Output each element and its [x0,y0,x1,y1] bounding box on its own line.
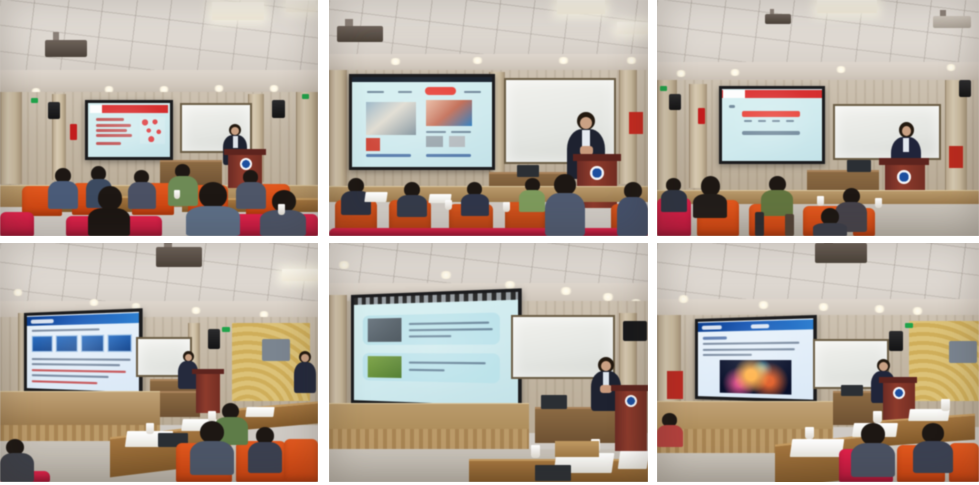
slide-logo [723,90,745,98]
audience-member [813,208,847,236]
slide-selected-tab [425,87,456,95]
water-cup [445,200,452,210]
slide-tab-label [398,91,412,93]
slide-4 [27,312,139,392]
downlight [601,293,615,301]
scene-4 [0,243,318,482]
downlight [625,57,638,64]
downlight [729,69,741,76]
slide-caption-line [426,131,446,133]
slide-caption-line [758,120,766,122]
audience-body [88,208,130,236]
stage-platform [0,391,160,427]
podium-seal-icon [625,395,637,407]
ceiling-light-panel [817,0,877,13]
staff-face [301,354,309,362]
audience-body [128,182,156,209]
audience-chair [0,212,34,236]
audience-member [761,176,793,216]
audience-body [519,190,545,212]
laptop [841,385,863,396]
slide-thumbnail [367,318,401,341]
exit-sign-icon [31,98,38,103]
slide-5 [354,292,518,406]
audience-body [761,190,793,216]
downlight [389,58,402,65]
projector [156,247,202,267]
slide-thumbnail-small [426,136,443,147]
wall-red-banner [949,146,963,168]
audience-member [545,174,585,236]
slide-logo [90,105,101,113]
audience-chair [284,439,318,482]
wall-red-banner [667,371,683,399]
water-cup [531,445,540,458]
slide-topbar [352,77,492,82]
exit-sign-icon [222,327,230,332]
slide-thumbnail [367,356,401,377]
wall-pillar [0,92,22,184]
audience-member [88,186,130,236]
projector [765,14,791,24]
scene-2 [329,0,648,236]
downlight [268,85,280,92]
slide-diagram [140,117,165,144]
slide-thumbnail [366,102,416,134]
slide-caption-line [772,120,780,122]
audience-member [397,182,427,216]
exit-sign-icon [660,86,667,91]
photo-cell-5[interactable] [329,243,648,482]
audience-member [851,423,895,477]
slide-caption-line [786,120,794,122]
water-cup [875,198,882,208]
slide-bullet-heading [703,336,727,339]
audience-member [657,413,683,447]
audience-body [461,194,489,216]
projection-screen-frame-3 [719,86,825,164]
audience-member [519,178,545,212]
staff-body [294,362,316,393]
projector [45,40,87,57]
audience-head [199,182,227,208]
photo-cell-1[interactable] [0,0,318,236]
slide-1 [88,103,170,157]
downlight [88,299,100,306]
laptop [535,465,571,481]
projection-screen-3 [722,89,822,161]
ceiling-light-panel [282,269,318,281]
presenter-body [178,361,198,389]
podium-seal-icon [240,158,252,170]
scene-3 [657,0,979,236]
wall-speaker [959,80,971,97]
water-cup [805,427,814,439]
presenter-face [902,126,911,136]
slide-panel [32,336,53,352]
audience-head [861,423,885,445]
wall-monitor [949,341,977,363]
wall-pillar [689,84,707,188]
slide-link-line [366,154,411,157]
projection-screen-frame-5 [351,288,522,409]
audience-body [397,195,427,217]
fire-extinguisher [698,108,705,124]
audience-member [617,182,648,236]
documents [245,407,274,417]
slide-caption-line [744,120,752,122]
presenter-face [580,117,592,129]
wall-speaker [48,102,60,119]
slide-text-line [96,142,121,145]
water-cup [174,190,180,199]
projection-screen-4 [27,312,139,392]
audience-member [693,176,727,218]
projection-screen-1 [88,103,170,157]
presenter-face [231,127,239,135]
audience-head [922,423,944,443]
slide-thumbnail [426,100,472,125]
slide-tab-label [464,91,481,93]
projector [815,243,867,263]
audience-chair [329,228,648,236]
wall-speaker [669,94,681,110]
photo-cell-3[interactable] [657,0,979,236]
downlight [873,305,886,313]
audience-member [190,421,234,475]
downlight [817,303,830,311]
podium-seal-icon [897,170,911,184]
slide-thumbnail-small [366,138,380,151]
audience-body [545,193,585,236]
audience-head [701,176,720,196]
podium-top [611,385,648,391]
downlight [945,64,957,71]
slide-panel [56,335,78,352]
audience-member [913,423,953,473]
audience-head [554,174,576,195]
slide-text-line [96,129,127,132]
downlight [213,85,225,92]
scene-6 [657,243,979,482]
fire-extinguisher [70,124,77,140]
wall-pillar [296,92,318,188]
scene-1 [0,0,318,236]
water-cup [941,399,950,411]
slide-panel [81,335,104,352]
laptop [847,160,871,172]
audience-member [661,178,687,212]
photo-cell-2[interactable] [329,0,648,236]
downlight [557,57,570,64]
water-cup [817,196,824,206]
wall-speaker [889,331,903,351]
water-cup [146,423,154,434]
slide-panel [107,334,131,352]
downlight [439,271,453,279]
projector [337,26,383,42]
audience-body [186,206,240,236]
podium-top [573,154,621,161]
downlight [190,307,202,314]
downlight [12,289,24,296]
audience-member [461,182,489,216]
slide-tab-label [367,91,384,93]
audience-member [48,168,78,208]
audience-chair [949,443,979,482]
audience-body [661,190,687,212]
scene-5 [329,243,648,482]
downlight [471,57,484,64]
documents [790,439,845,457]
podium-top [192,369,224,374]
audience-head [200,421,224,443]
audience-member [186,182,240,236]
presenter-face [185,354,192,361]
water-cup [503,202,510,212]
ceiling-light-panel [617,22,648,34]
audience-member [128,170,156,208]
projection-screen-frame-4 [24,308,143,395]
slide-text-line [96,134,132,137]
slide-text-line [742,131,800,135]
podium-top [879,377,917,383]
exit-sign-icon [302,94,309,99]
presenter-shirt [903,138,909,152]
downlight [675,70,687,77]
staff-member [294,351,316,395]
projection-screen-5 [354,292,518,406]
audience-head [98,186,122,210]
documents [364,192,387,202]
projection-screen-frame-2 [349,74,495,170]
downlight [559,287,573,295]
audience-member [0,439,34,482]
photo-cell-6[interactable] [657,243,979,482]
slide-2 [352,77,492,167]
podium-seal-icon [590,166,604,180]
presenter-face [879,362,888,371]
ceiling [0,0,318,78]
water-cup [873,411,882,423]
laptop [517,165,539,177]
exit-sign-icon [905,323,913,328]
wall-red-banner [629,112,643,134]
wall-monitor [623,321,647,341]
slide-text-line [96,124,130,127]
wall-speaker [272,100,285,118]
slide-bullet [729,105,735,108]
projection-screen-frame-1 [85,100,173,160]
water-cup [278,204,285,215]
podium-seal-icon [893,387,905,399]
audience-body [248,442,282,473]
slide-text-line [409,335,451,337]
slide-6 [698,318,813,399]
audience-body [913,441,953,473]
slide-3 [722,89,822,161]
thermos [785,214,794,236]
projection-screen-frame-6 [695,315,817,403]
slide-link-line [426,154,471,157]
wall-speaker [208,329,220,349]
slide-figure-image [719,360,791,394]
audience-body [0,453,34,482]
audience-body [617,197,648,236]
downlight [677,295,690,303]
slide-highlight-block [742,111,800,117]
podium-top [224,149,266,155]
slide-background [354,292,518,406]
audience-body [48,181,78,209]
documents [618,451,648,469]
audience-member [248,427,282,473]
wall-monitor [262,339,290,361]
ceiling-light-panel [557,0,605,14]
slide-caption-line [451,131,471,133]
laptop [541,395,567,409]
audience-body [851,443,895,477]
ceiling-light-panel [286,0,316,12]
audience-body [813,223,847,236]
whiteboard-3 [833,104,941,160]
ceiling-fan [933,16,971,28]
downlight [337,261,351,269]
slide-background [722,89,822,161]
podium-top [879,158,929,165]
presenter-face [601,361,611,371]
audience-body [693,194,727,218]
projection-screen-6 [698,318,813,399]
photo-cell-4[interactable] [0,243,318,482]
wall-pillar [329,70,347,186]
slide-text-line [703,354,752,356]
audience-body [190,441,234,475]
ceiling-light-panel [212,2,264,20]
downlight [911,307,924,315]
presenter-shirt [233,136,238,148]
slide-thumbnail-small [449,136,466,147]
photo-grid [0,0,979,485]
projection-screen-2 [352,77,492,167]
downlight [835,66,847,73]
slide-text-line [96,118,124,121]
thermos [755,212,764,236]
audience-body [657,425,683,447]
cardboard-box [555,441,599,457]
downlight [757,301,770,309]
presenter-shirt [603,372,609,385]
